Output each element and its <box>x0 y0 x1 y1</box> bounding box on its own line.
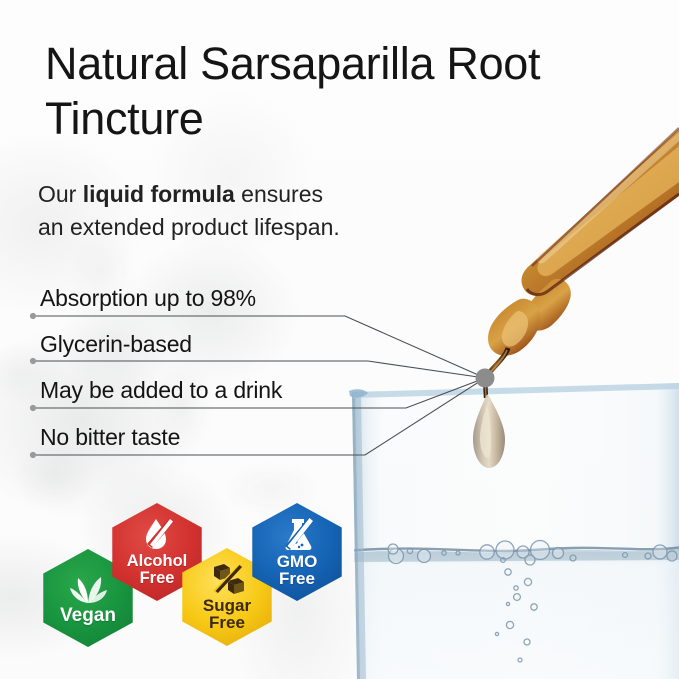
badge-gmo-free-label: GMO Free <box>277 553 318 588</box>
droplet-slash-icon <box>139 517 175 551</box>
sugar-cubes-slash-icon <box>208 563 246 595</box>
badge-vegan-label: Vegan <box>60 606 116 625</box>
badge-alcohol-free-label: Alcohol Free <box>127 553 188 587</box>
infographic-canvas: Natural Sarsaparilla Root Tincture Our l… <box>0 0 679 679</box>
badge-sugar-free-label: Sugar Free <box>203 597 251 632</box>
certification-badges: Vegan Alcohol Free <box>0 0 679 679</box>
leaf-icon <box>68 571 108 604</box>
flask-slash-icon <box>279 517 315 551</box>
